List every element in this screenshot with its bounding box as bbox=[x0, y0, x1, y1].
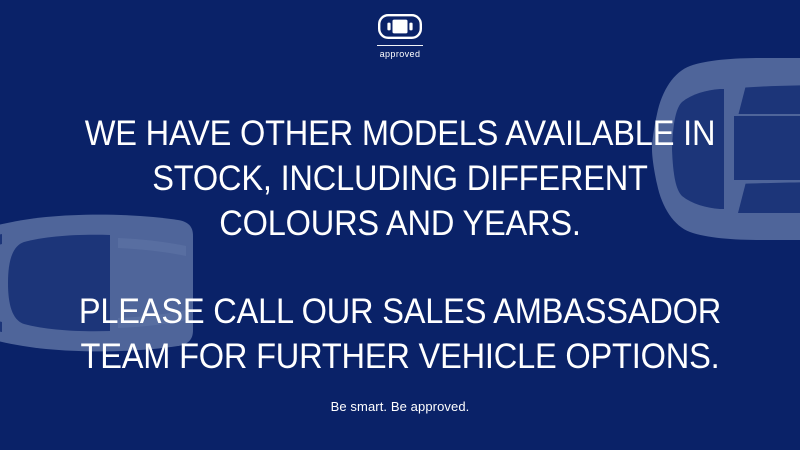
headline-paragraph-two: PLEASE CALL OUR SALES AMBASSADOR TEAM FO… bbox=[71, 290, 729, 380]
headline-paragraph-one: WE HAVE OTHER MODELS AVAILABLE IN STOCK,… bbox=[71, 112, 729, 246]
brand-tagline: Be smart. Be approved. bbox=[0, 399, 800, 414]
promo-slide: approved WE HAVE OTHER MODELS AVAILABLE … bbox=[0, 0, 800, 450]
car-top-view-icon bbox=[378, 14, 422, 39]
logo-divider-rule bbox=[377, 45, 423, 46]
brand-logo: approved bbox=[0, 14, 800, 59]
brand-wordmark: approved bbox=[380, 50, 421, 59]
message-copy: WE HAVE OTHER MODELS AVAILABLE IN STOCK,… bbox=[0, 112, 800, 380]
